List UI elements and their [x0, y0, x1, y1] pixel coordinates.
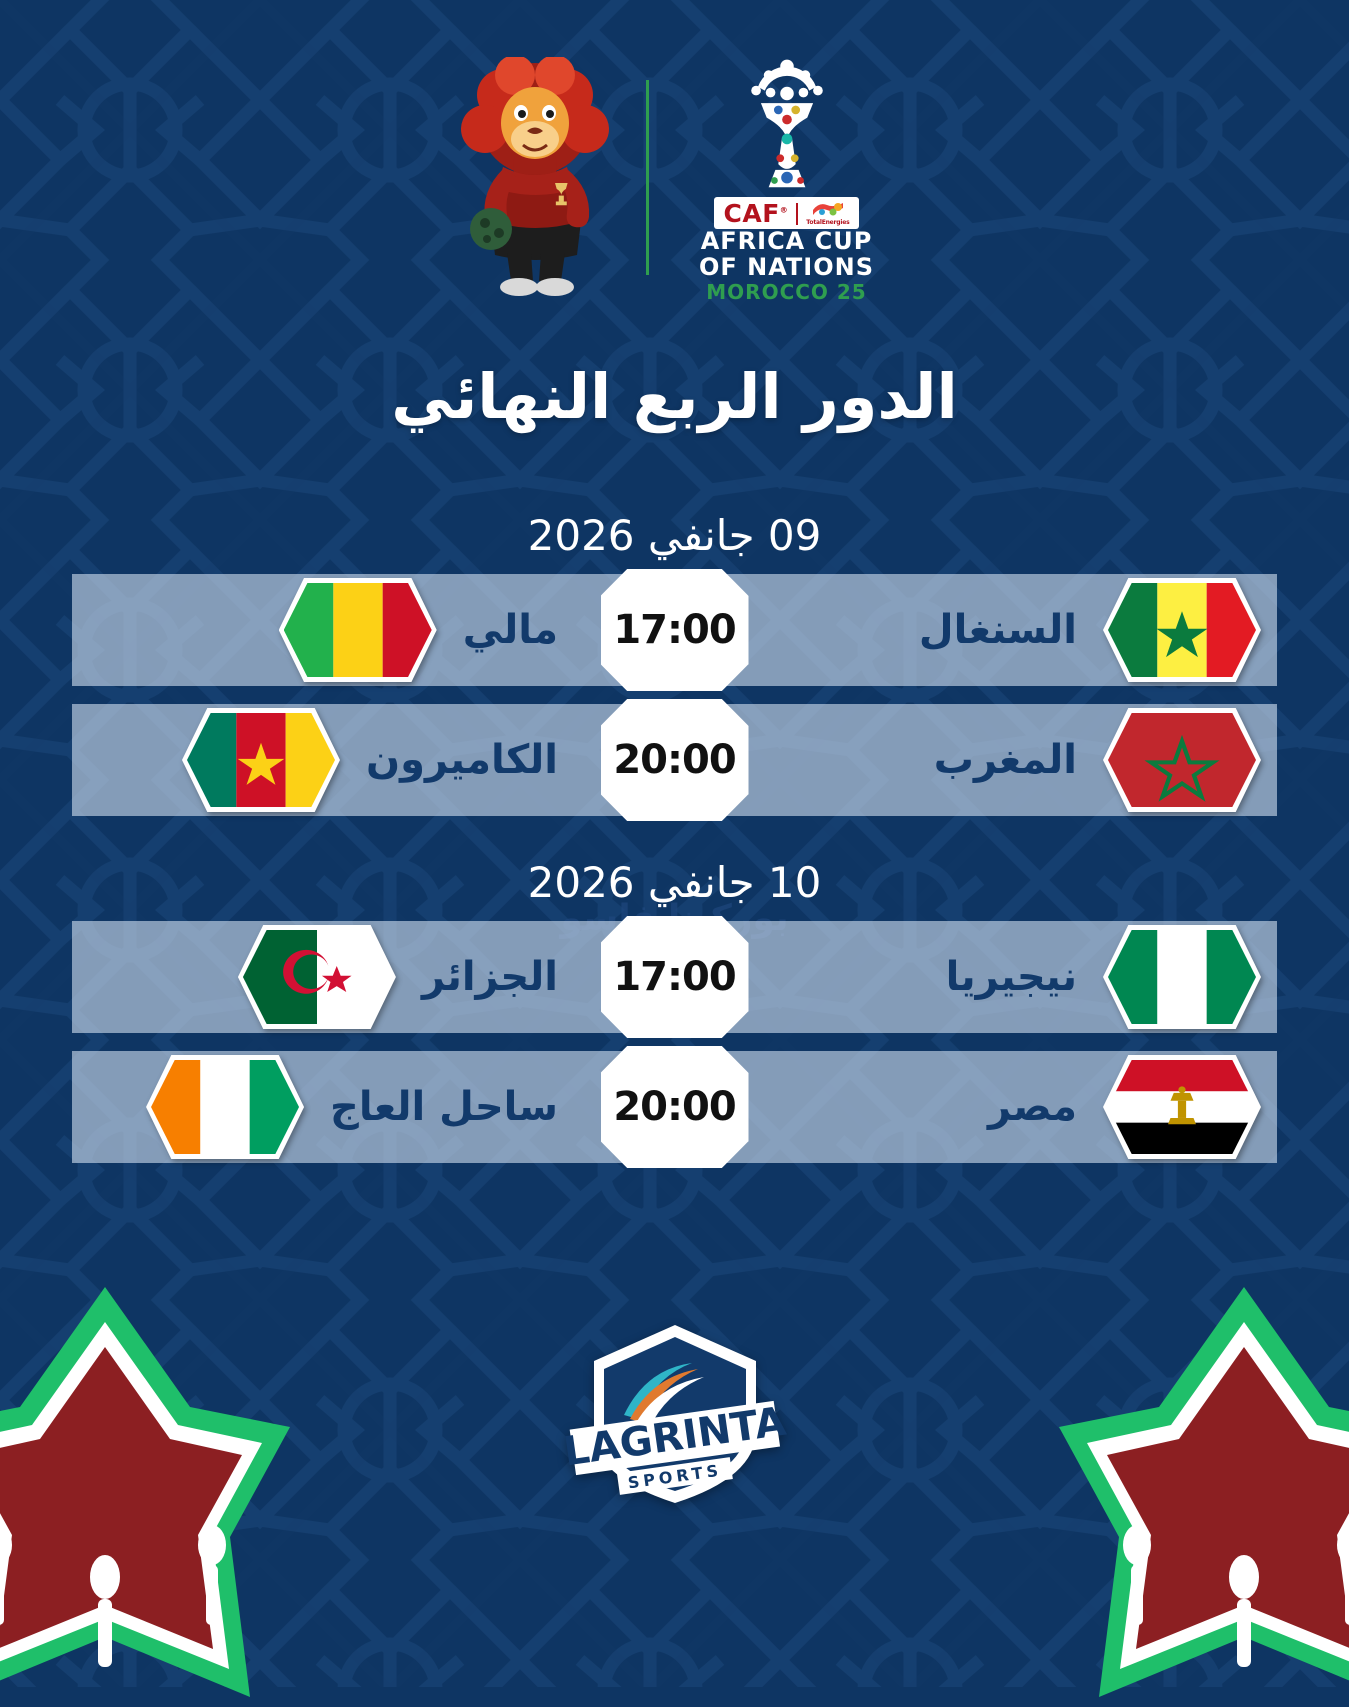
home-team-name: السنغال — [919, 607, 1077, 653]
algeria-flag-icon — [238, 925, 396, 1029]
match-schedule: 09 جانفي 2026 السنغال 17:00 — [0, 505, 1349, 1163]
ivory-coast-flag-icon — [146, 1055, 304, 1159]
caf-logo: CAF® TotalEnergies AFRICA CUP OF NATIONS… — [667, 50, 907, 304]
senegal-flag-icon — [1103, 578, 1261, 682]
away-team: الكاميرون — [88, 708, 558, 812]
lagrinta-shield-icon: LAGRINTA SPORTS — [550, 1319, 800, 1509]
match-row[interactable]: مصر 20:00 ساحل العاج — [72, 1051, 1277, 1163]
match-date-heading: 09 جانفي 2026 — [0, 505, 1349, 574]
away-team: ساحل العاج — [88, 1055, 558, 1159]
home-team-name: المغرب — [934, 737, 1077, 783]
nigeria-flag-icon — [1103, 925, 1261, 1029]
away-team-name: مالي — [463, 607, 558, 653]
away-team-name: ساحل العاج — [330, 1084, 558, 1130]
moroccan-emblem-icon — [0, 1277, 320, 1707]
match-row[interactable]: السنغال 17:00 مالي — [72, 574, 1277, 686]
tournament-line-3: MOROCCO 25 — [706, 281, 866, 304]
mali-flag-icon — [279, 578, 437, 682]
match-row[interactable]: المغرب 20:00 الكاميرون — [72, 704, 1277, 816]
match-time: 20:00 — [613, 1084, 735, 1130]
sponsor-label: TotalEnergies — [806, 219, 849, 226]
egypt-flag-icon — [1103, 1055, 1261, 1159]
cameroon-flag-icon — [182, 708, 340, 812]
match-row[interactable]: نيجيريا 17:00 الجزائر — [72, 921, 1277, 1033]
match-time: 17:00 — [613, 954, 735, 1000]
page-title: الدور الربع النهائي — [0, 360, 1349, 433]
caf-trophy-icon — [722, 50, 852, 195]
moroccan-emblem-icon — [1029, 1277, 1349, 1707]
home-team-name: نيجيريا — [946, 954, 1077, 1000]
match-time: 17:00 — [613, 607, 735, 653]
home-team-name: مصر — [988, 1084, 1077, 1130]
header-divider — [646, 80, 649, 275]
match-time: 20:00 — [613, 737, 735, 783]
header-logos: CAF® TotalEnergies AFRICA CUP OF NATIONS… — [0, 52, 1349, 302]
match-time-pill: 17:00 — [601, 569, 749, 691]
divider — [796, 203, 798, 225]
match-time-pill: 20:00 — [601, 1046, 749, 1168]
away-team: الجزائر — [88, 925, 558, 1029]
home-team: المغرب — [791, 708, 1261, 812]
home-team: السنغال — [791, 578, 1261, 682]
home-team: مصر — [791, 1055, 1261, 1159]
away-team-name: الجزائر — [422, 954, 558, 1000]
morocco-flag-icon — [1103, 708, 1261, 812]
lion-mascot-icon — [443, 57, 628, 297]
home-team: نيجيريا — [791, 925, 1261, 1029]
match-time-pill: 17:00 — [601, 916, 749, 1038]
tournament-line-1: AFRICA CUP — [701, 229, 873, 255]
caf-sponsor-badge: CAF® TotalEnergies — [714, 197, 860, 229]
match-time-pill: 20:00 — [601, 699, 749, 821]
away-team-name: الكاميرون — [366, 737, 558, 783]
totalenergies-logo: TotalEnergies — [806, 201, 849, 226]
match-date-heading: 10 جانفي 2026 — [0, 834, 1349, 921]
caf-wordmark: CAF® — [724, 201, 789, 226]
tournament-line-2: OF NATIONS — [699, 255, 874, 281]
away-team: مالي — [88, 578, 558, 682]
